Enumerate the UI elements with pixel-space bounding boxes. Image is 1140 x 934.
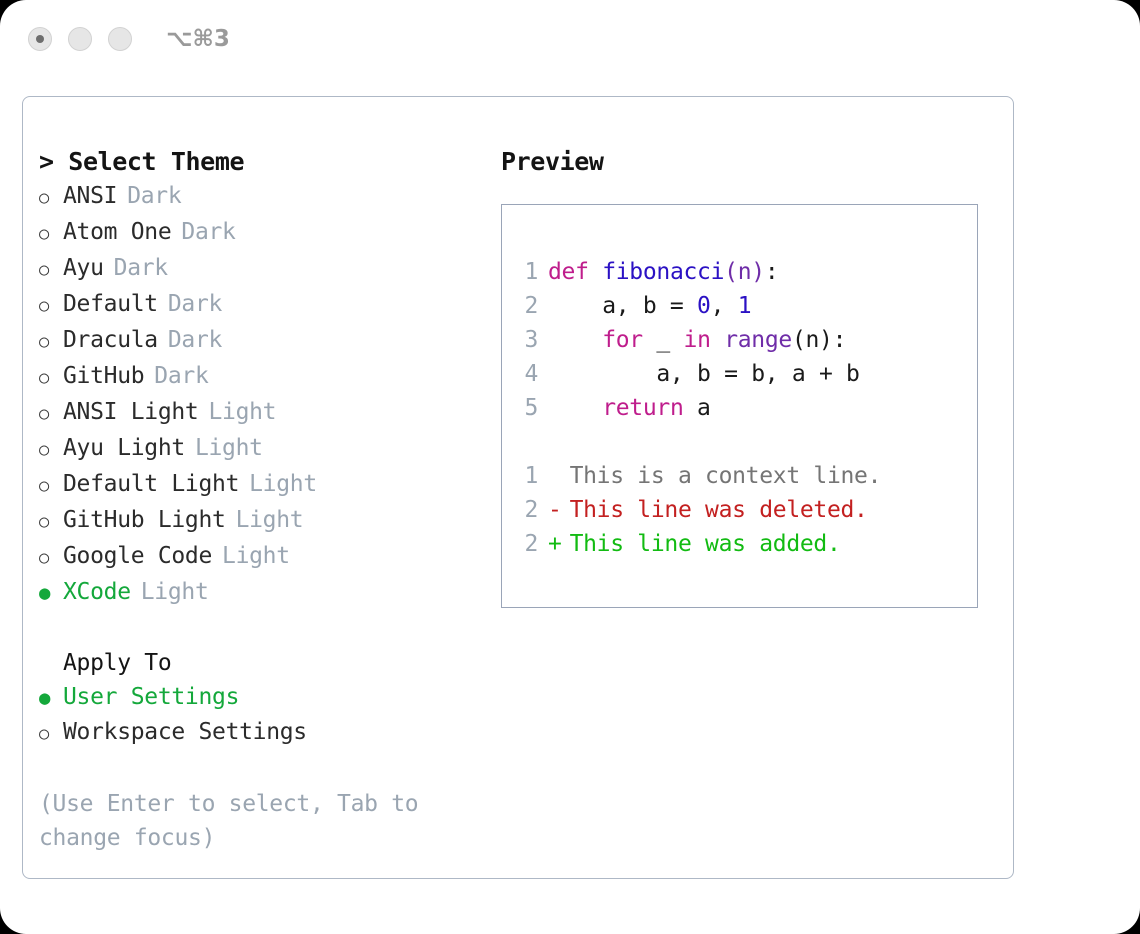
code-token: range: [724, 327, 792, 353]
code-token: (n):: [792, 327, 846, 353]
apply-option-label: User Settings: [63, 680, 239, 714]
line-number: 1: [514, 255, 548, 289]
radio-unselected-icon: ○: [39, 253, 63, 287]
theme-option-label: Atom One: [63, 215, 171, 249]
code-line-content: def fibonacci(n):: [548, 255, 778, 289]
code-token: ,: [711, 293, 738, 319]
theme-list: ○ANSIDark○Atom OneDark○AyuDark○DefaultDa…: [39, 179, 489, 610]
code-sample: 1def fibonacci(n):2 a, b = 0, 13 for _ i…: [514, 255, 977, 425]
code-preview-box: 1def fibonacci(n):2 a, b = 0, 13 for _ i…: [501, 204, 978, 608]
theme-option-label: Google Code: [63, 539, 212, 573]
radio-unselected-icon: ○: [39, 181, 63, 215]
theme-option-ansi[interactable]: ○ANSIDark: [39, 179, 489, 215]
diff-marker: -: [548, 493, 570, 527]
theme-option-label: Default: [63, 287, 158, 321]
code-token: [548, 395, 602, 421]
radio-selected-icon: ●: [39, 576, 63, 610]
apply-option-workspace-settings[interactable]: ○Workspace Settings: [39, 715, 489, 751]
line-number: 1: [514, 459, 548, 493]
code-token: for: [602, 327, 643, 353]
diff-line: 1 This is a context line.: [514, 459, 977, 493]
preview-heading: Preview: [501, 145, 1001, 179]
line-number: 2: [514, 493, 548, 527]
code-line: 2 a, b = 0, 1: [514, 289, 977, 323]
radio-unselected-icon: ○: [39, 217, 63, 251]
theme-option-google-code[interactable]: ○Google CodeLight: [39, 539, 489, 575]
theme-option-label: GitHub Light: [63, 503, 226, 537]
radio-unselected-icon: ○: [39, 289, 63, 323]
theme-option-atom-one[interactable]: ○Atom OneDark: [39, 215, 489, 251]
theme-option-ayu-light[interactable]: ○Ayu LightLight: [39, 431, 489, 467]
apply-option-user-settings[interactable]: ●User Settings: [39, 680, 489, 715]
panel-columns: > Select Theme ○ANSIDark○Atom OneDark○Ay…: [23, 97, 1013, 878]
code-line: 4 a, b = b, a + b: [514, 357, 977, 391]
radio-selected-icon: ●: [39, 681, 63, 715]
line-number: 5: [514, 391, 548, 425]
line-number: 2: [514, 527, 548, 561]
diff-line: 2-This line was deleted.: [514, 493, 977, 527]
keyboard-shortcut-label: ⌥⌘3: [166, 26, 230, 52]
radio-unselected-icon: ○: [39, 541, 63, 575]
theme-picker-panel: > Select Theme ○ANSIDark○Atom OneDark○Ay…: [22, 96, 1014, 879]
window-control-dot-active[interactable]: [28, 27, 52, 51]
code-token: def: [548, 259, 602, 285]
diff-line-text: This line was added.: [570, 527, 841, 561]
code-line: 5 return a: [514, 391, 977, 425]
theme-variant-badge: Dark: [127, 179, 181, 213]
theme-option-label: GitHub: [63, 359, 144, 393]
theme-option-label: XCode: [63, 575, 131, 609]
code-token: [548, 327, 602, 353]
theme-variant-badge: Dark: [181, 215, 235, 249]
code-token: _: [643, 327, 684, 353]
theme-option-label: Dracula: [63, 323, 158, 357]
line-number: 2: [514, 289, 548, 323]
terminal-window: ⌥⌘3 > Select Theme ○ANSIDark○Atom OneDar…: [0, 0, 1140, 934]
theme-option-github-light[interactable]: ○GitHub LightLight: [39, 503, 489, 539]
radio-unselected-icon: ○: [39, 505, 63, 539]
theme-option-label: Ayu Light: [63, 431, 185, 465]
theme-option-ayu[interactable]: ○AyuDark: [39, 251, 489, 287]
code-token: a: [684, 395, 711, 421]
diff-marker: [548, 459, 570, 493]
theme-option-label: ANSI: [63, 179, 117, 213]
code-token: 0: [697, 293, 711, 319]
apply-option-label: Workspace Settings: [63, 715, 307, 749]
theme-option-github[interactable]: ○GitHubDark: [39, 359, 489, 395]
code-line-content: a, b = b, a + b: [548, 357, 860, 391]
code-line-content: for _ in range(n):: [548, 323, 846, 357]
theme-variant-badge: Light: [208, 395, 276, 429]
theme-variant-badge: Light: [141, 575, 209, 609]
diff-line-text: This line was deleted.: [570, 493, 868, 527]
code-line: 3 for _ in range(n):: [514, 323, 977, 357]
theme-option-label: Ayu: [63, 251, 104, 285]
theme-option-label: Default Light: [63, 467, 239, 501]
select-theme-heading: > Select Theme: [39, 145, 489, 179]
section-spacer: [39, 610, 489, 646]
theme-option-default[interactable]: ○DefaultDark: [39, 287, 489, 323]
theme-option-xcode[interactable]: ●XCodeLight: [39, 575, 489, 610]
code-line: 1def fibonacci(n):: [514, 255, 977, 289]
theme-variant-badge: Light: [195, 431, 263, 465]
radio-unselected-icon: ○: [39, 325, 63, 359]
theme-variant-badge: Dark: [168, 323, 222, 357]
diff-line: 2+This line was added.: [514, 527, 977, 561]
theme-variant-badge: Dark: [114, 251, 168, 285]
radio-unselected-icon: ○: [39, 361, 63, 395]
code-token: in: [684, 327, 711, 353]
diff-marker: +: [548, 527, 570, 561]
theme-variant-badge: Dark: [154, 359, 208, 393]
code-line-content: return a: [548, 391, 711, 425]
theme-option-dracula[interactable]: ○DraculaDark: [39, 323, 489, 359]
radio-unselected-icon: ○: [39, 433, 63, 467]
window-controls: [28, 27, 132, 51]
code-token: :: [765, 259, 779, 285]
window-titlebar: ⌥⌘3: [0, 0, 1140, 78]
apply-to-heading: Apply To: [39, 646, 489, 680]
line-number: 3: [514, 323, 548, 357]
code-token: fibonacci: [602, 259, 724, 285]
code-token: ): [751, 259, 765, 285]
line-number: 4: [514, 357, 548, 391]
theme-list-column: > Select Theme ○ANSIDark○Atom OneDark○Ay…: [39, 145, 489, 855]
code-line-content: a, b = 0, 1: [548, 289, 751, 323]
diff-line-text: This is a context line.: [570, 459, 882, 493]
diff-sample: 1 This is a context line.2-This line was…: [514, 459, 977, 561]
theme-variant-badge: Light: [236, 503, 304, 537]
radio-unselected-icon: ○: [39, 469, 63, 503]
window-control-dot-3[interactable]: [108, 27, 132, 51]
code-token: return: [602, 395, 683, 421]
code-token: a, b =: [548, 293, 697, 319]
theme-variant-badge: Light: [249, 467, 317, 501]
theme-option-ansi-light[interactable]: ○ANSI LightLight: [39, 395, 489, 431]
theme-variant-badge: Light: [222, 539, 290, 573]
theme-option-default-light[interactable]: ○Default LightLight: [39, 467, 489, 503]
radio-unselected-icon: ○: [39, 397, 63, 431]
code-token: a, b = b, a + b: [548, 361, 860, 387]
code-token: 1: [738, 293, 752, 319]
code-token: [711, 327, 725, 353]
radio-unselected-icon: ○: [39, 717, 63, 751]
code-token: n: [738, 259, 752, 285]
code-diff-spacer: [514, 425, 977, 459]
code-token: (: [724, 259, 738, 285]
preview-column: Preview 1def fibonacci(n):2 a, b = 0, 13…: [501, 145, 1001, 608]
window-control-dot-2[interactable]: [68, 27, 92, 51]
apply-to-list: ●User Settings○Workspace Settings: [39, 680, 489, 751]
keyboard-hint-text: (Use Enter to select, Tab to change focu…: [39, 787, 439, 855]
active-indicator-icon: [36, 35, 44, 43]
theme-variant-badge: Dark: [168, 287, 222, 321]
theme-option-label: ANSI Light: [63, 395, 198, 429]
